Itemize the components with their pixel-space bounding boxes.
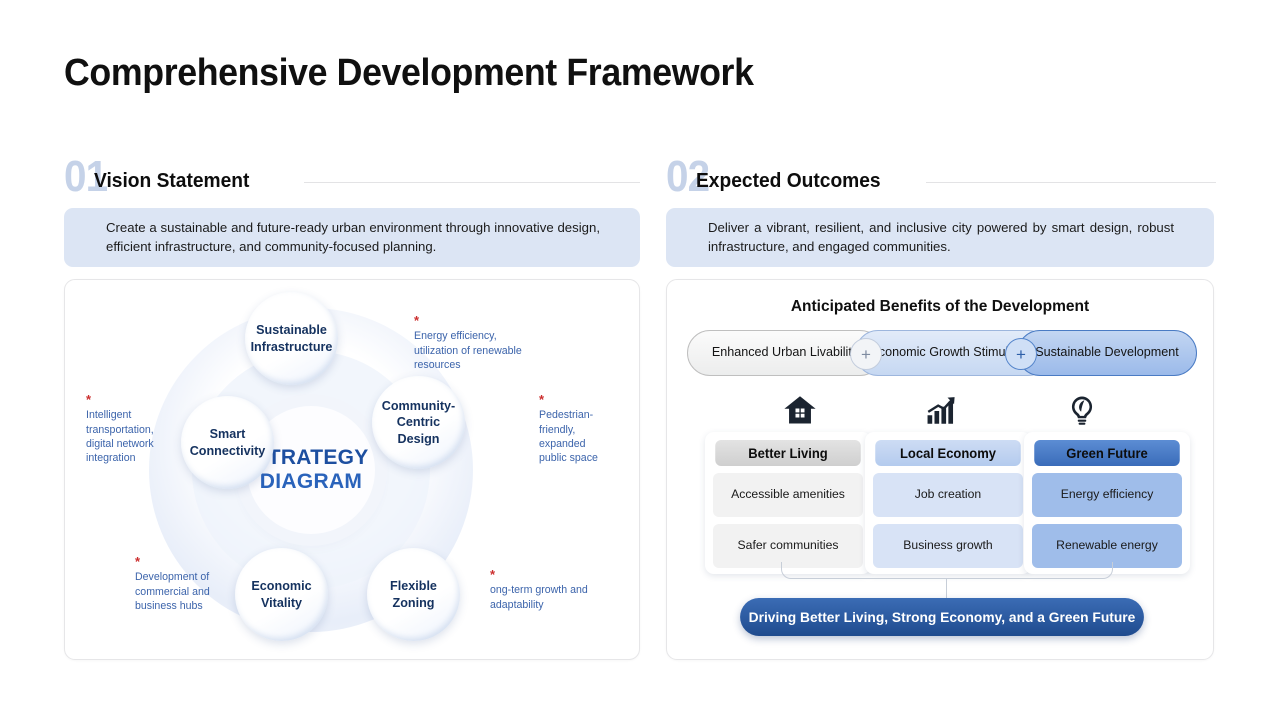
- benefit-item[interactable]: Job creation: [873, 473, 1023, 517]
- chevron-connector-1-icon: +: [850, 338, 882, 370]
- benefits-chevron-row: Enhanced Urban Livability Economic Growt…: [687, 330, 1197, 376]
- strategy-node-community-centric-design[interactable]: Community-Centric Design: [372, 376, 465, 469]
- strategy-note-energy-efficiency: * Energy efficiency, utilization of rene…: [414, 316, 542, 372]
- benefit-column-local-economy: Local Economy Job creation Business grow…: [865, 432, 1031, 574]
- lightbulb-leaf-icon: [1007, 386, 1157, 428]
- column-header-green-future: Green Future: [1034, 440, 1180, 466]
- asterisk-icon: *: [414, 316, 542, 325]
- asterisk-icon: *: [86, 395, 172, 404]
- strategy-node-economic-vitality[interactable]: Economic Vitality: [235, 548, 328, 641]
- hub-line-2: DIAGRAM: [260, 470, 362, 494]
- strategy-node-sustainable-infrastructure[interactable]: Sustainable Infrastructure: [245, 292, 338, 385]
- benefit-column-green-future: Green Future Energy efficiency Renewable…: [1024, 432, 1190, 574]
- benefit-item[interactable]: Accessible amenities: [713, 473, 863, 517]
- benefit-item[interactable]: Energy efficiency: [1032, 473, 1182, 517]
- section-rule-02: [926, 182, 1216, 183]
- strategy-note-pedestrian-friendly: * Pedestrian-friendly, expanded public s…: [539, 395, 613, 466]
- chevron-connector-2-icon: +: [1005, 338, 1037, 370]
- strategy-note-text: Intelligent transportation, digital netw…: [86, 409, 154, 464]
- summary-banner: Driving Better Living, Strong Economy, a…: [740, 598, 1144, 636]
- strategy-note-text: ong-term growth and adaptability: [490, 584, 588, 610]
- strategy-node-flexible-zoning[interactable]: Flexible Zoning: [367, 548, 460, 641]
- columns-stem: [946, 578, 947, 600]
- columns-brace: [781, 562, 1113, 579]
- column-header-local-economy: Local Economy: [875, 440, 1021, 466]
- expected-outcomes-band: Deliver a vibrant, resilient, and inclus…: [666, 208, 1214, 267]
- strategy-note-long-term-growth: * ong-term growth and adaptability: [490, 570, 592, 612]
- section-rule-01: [304, 182, 640, 183]
- house-icon: [725, 386, 875, 428]
- strategy-note-text: Pedestrian-friendly, expanded public spa…: [539, 409, 598, 464]
- strategy-node-smart-connectivity[interactable]: Smart Connectivity: [181, 396, 274, 489]
- strategy-wheel: STRATEGY DIAGRAM Sustainable Infrastruct…: [65, 280, 639, 659]
- column-header-better-living: Better Living: [715, 440, 861, 466]
- benefits-card: Anticipated Benefits of the Development …: [666, 279, 1214, 660]
- vision-statement-text: Create a sustainable and future-ready ur…: [106, 219, 600, 256]
- strategy-note-commercial-hubs: * Development of commercial and business…: [135, 557, 231, 613]
- strategy-note-text: Development of commercial and business h…: [135, 571, 210, 612]
- strategy-note-text: Energy efficiency, utilization of renewa…: [414, 330, 522, 371]
- benefits-title: Anticipated Benefits of the Development: [675, 298, 1205, 316]
- asterisk-icon: *: [539, 395, 613, 404]
- section-title-01: Vision Statement: [94, 170, 249, 193]
- benefit-column-better-living: Better Living Accessible amenities Safer…: [705, 432, 871, 574]
- bar-chart-growth-icon: [866, 386, 1016, 428]
- vision-statement-band: Create a sustainable and future-ready ur…: [64, 208, 640, 267]
- strategy-diagram-card: STRATEGY DIAGRAM Sustainable Infrastruct…: [64, 279, 640, 660]
- asterisk-icon: *: [490, 570, 592, 579]
- slide-root: Comprehensive Development Framework 01 V…: [0, 0, 1280, 720]
- expected-outcomes-text: Deliver a vibrant, resilient, and inclus…: [708, 219, 1174, 256]
- section-title-02: Expected Outcomes: [696, 170, 881, 193]
- asterisk-icon: *: [135, 557, 231, 566]
- chevron-sustainable-development[interactable]: Sustainable Development: [1017, 330, 1197, 376]
- page-title: Comprehensive Development Framework: [64, 52, 754, 95]
- strategy-note-intelligent-transportation: * Intelligent transportation, digital ne…: [86, 395, 172, 466]
